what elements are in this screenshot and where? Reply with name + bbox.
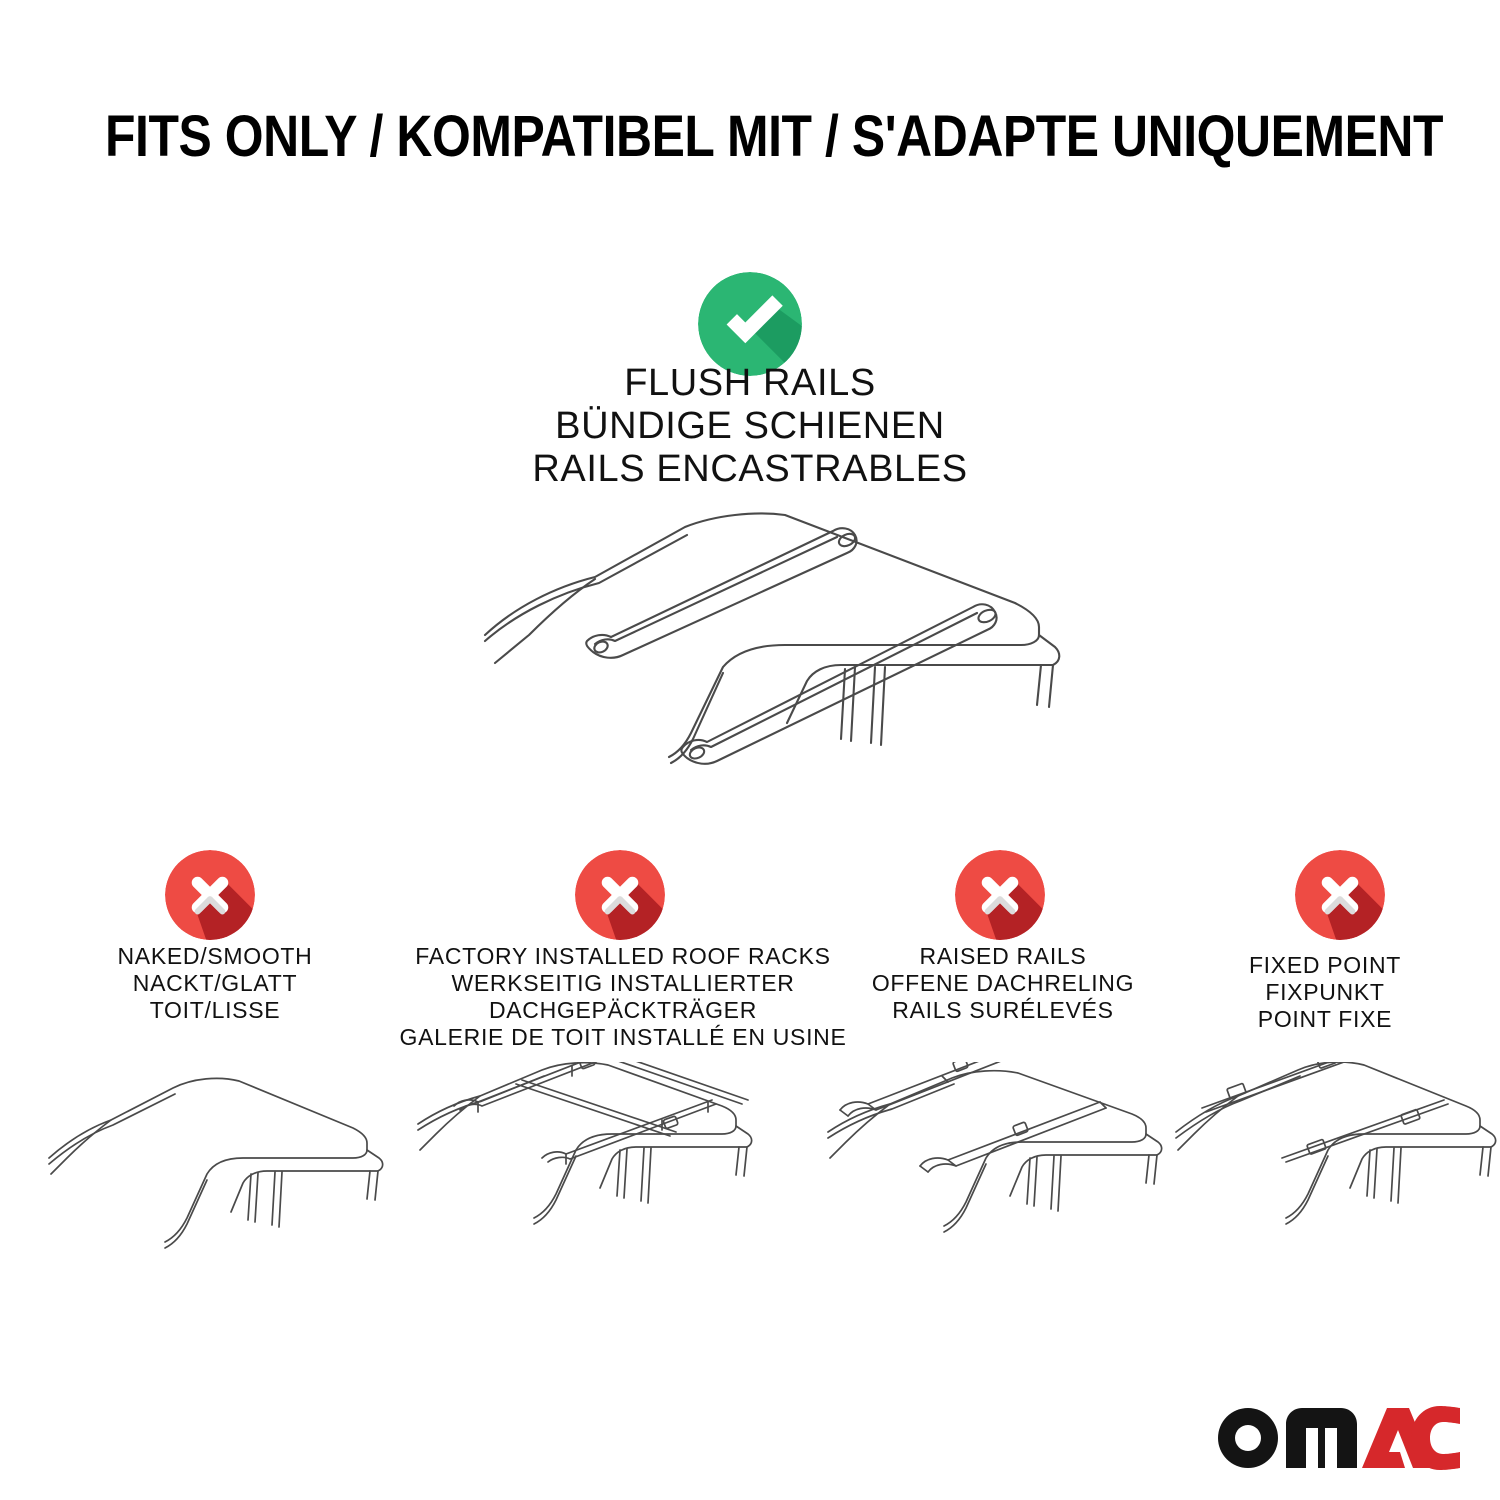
caption-line: BÜNDIGE SCHIENEN — [380, 405, 1120, 448]
naked-smooth-caption: NAKED/SMOOTH NACKT/GLATT TOIT/LISSE — [55, 943, 375, 1024]
caption-line: RAILS ENCASTRABLES — [380, 448, 1120, 491]
caption-line: RAILS SURÉLEVÉS — [843, 997, 1163, 1024]
raised-rails-caption: RAISED RAILS OFFENE DACHRELING RAILS SUR… — [843, 943, 1163, 1024]
caption-line: FACTORY INSTALLED ROOF RACKS — [393, 943, 853, 970]
car-roof-raised-rails-illustration — [822, 1062, 1182, 1277]
cross-circle-icon — [1295, 850, 1385, 940]
caption-line: DACHGEPÄCKTRÄGER — [393, 997, 853, 1024]
car-roof-naked-smooth-illustration — [45, 1062, 395, 1277]
fixed-point-caption: FIXED POINT FIXPUNKT POINT FIXE — [1190, 952, 1460, 1033]
cross-circle-icon — [575, 850, 665, 940]
car-roof-flush-rails-illustration — [455, 495, 1075, 795]
cross-circle-icon — [165, 850, 255, 940]
roof-rail-compatibility-infographic: FITS ONLY / KOMPATIBEL MIT / S'ADAPTE UN… — [0, 0, 1500, 1500]
caption-line: NACKT/GLATT — [55, 970, 375, 997]
caption-line: GALERIE DE TOIT INSTALLÉ EN USINE — [393, 1024, 853, 1051]
caption-line: RAISED RAILS — [843, 943, 1163, 970]
factory-roof-racks-caption: FACTORY INSTALLED ROOF RACKS WERKSEITIG … — [393, 943, 853, 1051]
cross-circle-icon — [955, 850, 1045, 940]
omac-logo — [1212, 1398, 1460, 1472]
page-title: FITS ONLY / KOMPATIBEL MIT / S'ADAPTE UN… — [105, 104, 1395, 170]
car-roof-factory-racks-illustration — [412, 1062, 772, 1277]
caption-line: TOIT/LISSE — [55, 997, 375, 1024]
caption-line: FIXPUNKT — [1190, 979, 1460, 1006]
caption-line: FLUSH RAILS — [380, 362, 1120, 405]
caption-line: FIXED POINT — [1190, 952, 1460, 979]
caption-line: OFFENE DACHRELING — [843, 970, 1163, 997]
check-circle-icon — [698, 272, 802, 376]
caption-line: NAKED/SMOOTH — [55, 943, 375, 970]
caption-line: POINT FIXE — [1190, 1006, 1460, 1033]
flush-rails-caption: FLUSH RAILS BÜNDIGE SCHIENEN RAILS ENCAS… — [380, 362, 1120, 491]
caption-line: WERKSEITIG INSTALLIERTER — [393, 970, 853, 997]
car-roof-fixed-point-illustration — [1172, 1062, 1497, 1277]
